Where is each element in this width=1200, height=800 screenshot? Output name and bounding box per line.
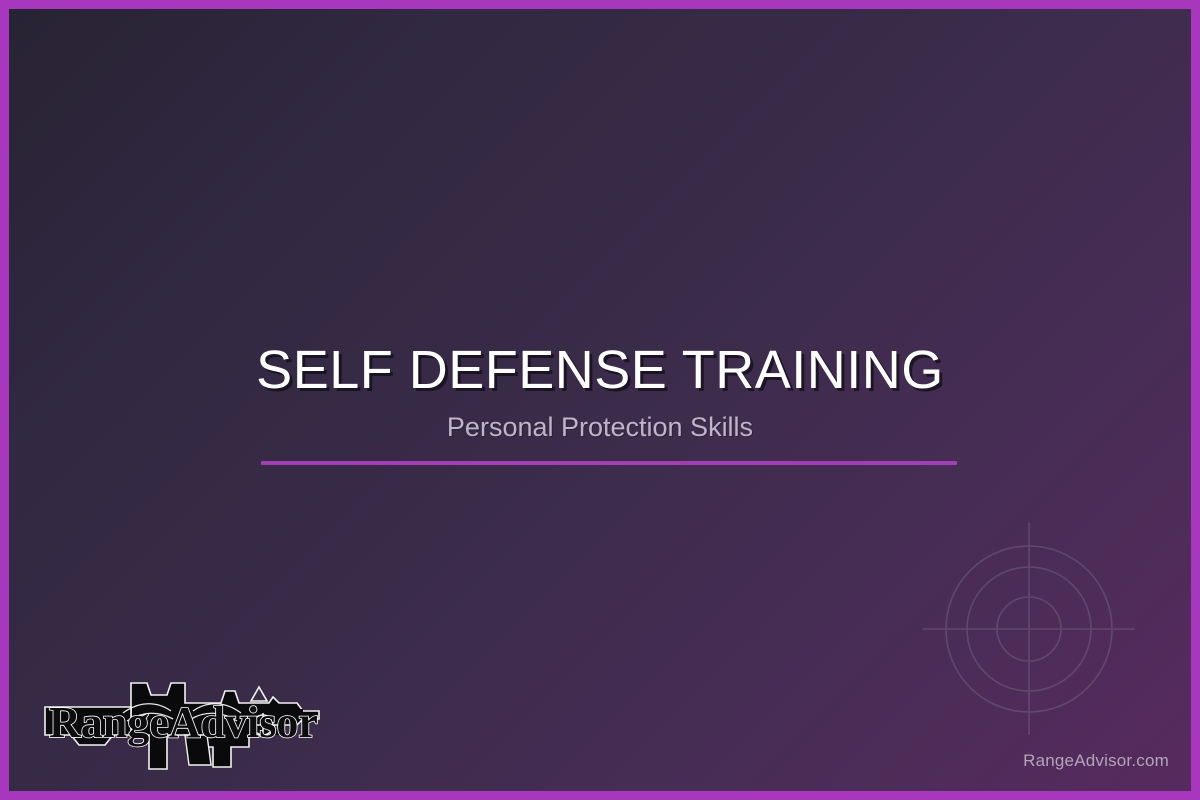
presentation-slide: SELF DEFENSE TRAINING Personal Protectio… xyxy=(0,0,1200,800)
page-subtitle: Personal Protection Skills xyxy=(9,411,1191,443)
crosshair-target-icon xyxy=(905,505,1153,753)
title-divider xyxy=(261,461,957,465)
title-block: SELF DEFENSE TRAINING Personal Protectio… xyxy=(9,339,1191,443)
page-title: SELF DEFENSE TRAINING xyxy=(9,339,1191,401)
brand-logo-text: RangeAdvisor xyxy=(49,698,318,747)
footer-url: RangeAdvisor.com xyxy=(1023,751,1169,771)
brand-logo: RangeAdvisor xyxy=(35,673,327,777)
